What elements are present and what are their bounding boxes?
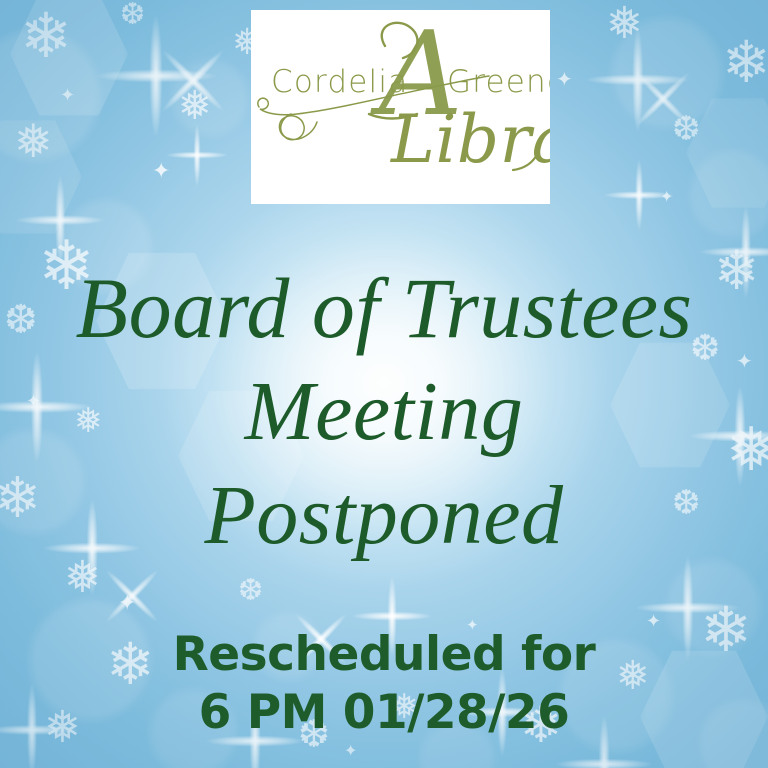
snowflake-icon: ❆ [238,576,263,606]
snowflake-icon: ❅ [606,2,643,46]
snowflake-icon: ❆ [120,0,145,30]
snowflake-icon: ❅ [178,86,212,126]
snowflake-icon: ❅ [14,118,53,164]
snowflake-icon: ❆ [672,112,701,146]
headline-line-3: Postponed [0,464,768,568]
headline-block: Board of Trustees Meeting Postponed [0,256,768,568]
reschedule-label: Rescheduled for [0,626,768,684]
star-icon: ✦ [60,86,75,104]
snowflake-icon: ❄ [20,6,72,68]
reschedule-datetime: 6 PM 01/28/26 [0,684,768,742]
star-icon: ✦ [660,190,673,206]
star-icon: ✦ [152,160,170,182]
headline-line-1: Board of Trustees [0,256,768,360]
winter-announcement-poster: ❄ ❅ ❆ ❅ ❄ ❆ ❅ ❄ ❆ ❅ ❄ ❅ ❅ ❄ ❆ ❅ ❆ ❄ ❄ ❅ … [0,0,768,768]
library-logo: Cordelia A Greene Library [251,10,550,204]
snowflake-icon: ❄ [722,34,768,92]
logo-word-greene: Greene [447,64,550,100]
library-logo-card: Cordelia A Greene Library [251,10,550,204]
star-icon: ✦ [344,744,357,760]
reschedule-block: Rescheduled for 6 PM 01/28/26 [0,626,768,742]
headline-line-2: Meeting [0,360,768,464]
star-icon: ✦ [556,70,573,90]
star-icon: ✦ [118,592,136,614]
